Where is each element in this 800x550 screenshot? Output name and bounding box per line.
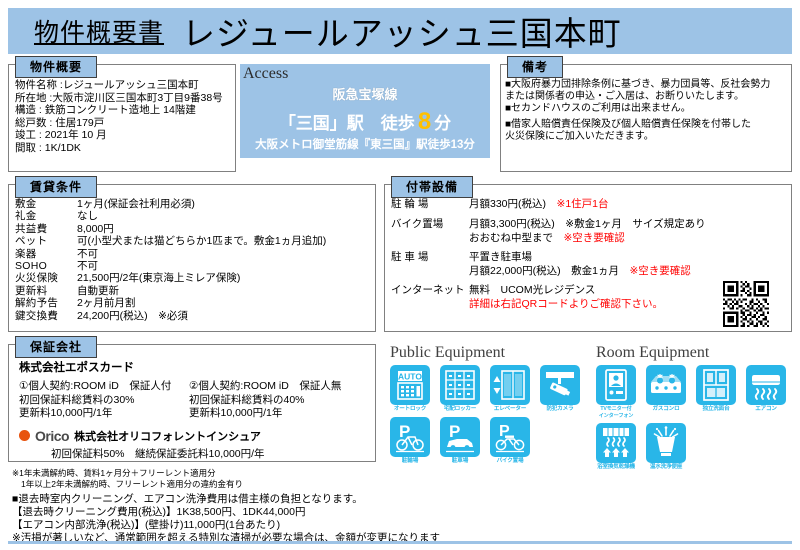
rental-condition-row: 敷金1ヶ月(保証会社利用必須) <box>15 198 375 210</box>
public-equipment-item-6: Pバイク置場 <box>488 417 532 465</box>
property-summary-document: 物件概要書 レジュールアッシュ三国本町 物件概要 物件名称 :レジュールアッシュ… <box>0 0 800 550</box>
document-header: 物件概要書 レジュールアッシュ三国本町 <box>8 8 792 54</box>
rental-condition-row: 解約予告2ヶ月前月割 <box>15 297 375 309</box>
ancillary-equipment-row: 駐 車 場平置き駐車場月額22,000円(税込) 敷金1ヵ月 ※空き要確認 <box>391 251 791 278</box>
access-walk-minutes: 8 <box>415 108 434 135</box>
rental-condition-value: 可(小型犬または猫どちらか1匹まで。敷金1ヵ月追加) <box>77 235 326 247</box>
ancillary-equipment-tab: 付帯設備 <box>391 176 473 198</box>
rental-condition-row: ペット可(小型犬または猫どちらか1匹まで。敷金1ヵ月追加) <box>15 235 375 247</box>
public-equipment-item-4: P駐輪場 <box>388 417 432 465</box>
guarantee-plan-columns: ①個人契約:ROOM iD 保証人付初回保証料総賃料の30%更新料10,000円… <box>19 380 375 421</box>
svg-text:P: P <box>449 422 460 441</box>
room-equipment-label: 浴室換気乾燥機 <box>594 464 638 471</box>
orico-row: Orico 株式会社オリコフォレントインシュア <box>19 428 375 444</box>
ancillary-equipment-row: 駐 輪 場月額330円(税込) ※1住戸1台 <box>391 198 791 211</box>
rental-condition-row: 楽器不可 <box>15 248 375 260</box>
bath-dryer-icon <box>596 423 636 463</box>
rental-condition-value: 24,200円(税込) ※必須 <box>77 310 188 322</box>
qr-code[interactable] <box>723 281 769 327</box>
ancillary-equipment-row: バイク置場月額3,300円(税込) ※敷金1ヶ月 サイズ規定ありおおむね中型まで… <box>391 218 791 245</box>
ancillary-equipment-value: 無料 UCOM光レジデンス <box>469 284 595 297</box>
ancillary-equipment-key: バイク置場 <box>391 218 469 231</box>
remarks-list: ■大阪府暴力団排除条例に基づき、暴力団員等、反社会勢力または関係者の申込・ご入居… <box>505 79 791 115</box>
document-type-label: 物件概要書 <box>34 13 164 49</box>
guarantee-plan-line: 更新料10,000円/1年 <box>189 407 359 421</box>
rental-condition-value: なし <box>77 210 98 222</box>
public-equipment-section: Public Equipment AUTOオートロック宅配ロッカーエレベーター防… <box>388 344 588 478</box>
ancillary-equipment-value-text: 無料 UCOM光レジデンス <box>469 284 595 296</box>
remark-line: ■セカンドハウスのご利用は出来ません。 <box>505 103 791 115</box>
ancillary-equipment-main: バイク置場月額3,300円(税込) ※敷金1ヶ月 サイズ規定あり <box>391 218 791 231</box>
rental-condition-row: 鍵交換費24,200円(税込) ※必須 <box>15 310 375 322</box>
air-conditioner-icon <box>746 365 786 405</box>
orico-logo-icon <box>19 430 30 441</box>
rental-condition-row: 更新料自動更新 <box>15 285 375 297</box>
rental-condition-row: SOHO不可 <box>15 260 375 272</box>
rental-condition-key: SOHO <box>15 260 77 272</box>
ancillary-equipment-sub-note: 詳細は右記QRコードよりご確認下さい。 <box>469 298 663 310</box>
room-equipment-item-0: TVモニター付インターフォン <box>594 365 638 419</box>
ancillary-equipment-value: 月額330円(税込) ※1住戸1台 <box>469 198 609 211</box>
guarantee-plan-line: 初回保証料総賃料の40% <box>189 394 359 408</box>
public-equipment-title: Public Equipment <box>390 344 588 362</box>
property-overview-panel: 物件概要 物件名称 :レジュールアッシュ三国本町所在地 :大阪市淀川区三国本町3… <box>8 64 236 172</box>
orico-brand: Orico <box>35 428 69 444</box>
room-equipment-title: Room Equipment <box>596 344 796 362</box>
rental-condition-value: 2ヶ月前月割 <box>77 297 135 309</box>
guarantee-plan-line: ②個人契約:ROOM iD 保証人無 <box>189 380 359 394</box>
rental-condition-key: 解約予告 <box>15 297 77 309</box>
overview-line: 間取 : 1K/1DK <box>15 142 235 155</box>
remark-line: ■借家人賠償責任保険及び個人賠償責任保険を付帯した <box>505 119 791 131</box>
public-equipment-item-2: エレベーター <box>488 365 532 413</box>
room-equipment-label: TVモニター付インターフォン <box>594 406 638 419</box>
rental-condition-row: 共益費8,000円 <box>15 223 375 235</box>
public-equipment-item-3: 防犯カメラ <box>538 365 582 413</box>
ancillary-equipment-value-text: 月額3,300円(税込) ※敷金1ヶ月 サイズ規定あり <box>469 218 706 230</box>
ancillary-equipment-value-text: 平置き駐車場 <box>469 251 532 263</box>
room-equipment-item-4: 浴室換気乾燥機 <box>594 423 638 471</box>
rental-condition-key: 火災保険 <box>15 272 77 284</box>
overview-line: 物件名称 :レジュールアッシュ三国本町 <box>15 79 235 92</box>
room-equipment-label: エアコン <box>744 406 788 413</box>
remark-line: ■大阪府暴力団排除条例に基づき、暴力団員等、反社会勢力 <box>505 79 791 91</box>
rental-condition-row: 火災保険21,500円/2年(東京海上ミレア保険) <box>15 272 375 284</box>
overview-line: 竣工 : 2021年 10 月 <box>15 129 235 142</box>
rental-condition-value: 自動更新 <box>77 285 119 297</box>
guarantee-company-tab: 保証会社 <box>15 336 97 358</box>
ancillary-equipment-sub-text: 月額22,000円(税込) 敷金1ヵ月 <box>469 265 629 277</box>
access-train-line: 阪急宝塚線 <box>240 84 490 103</box>
ancillary-equipment-sub: おおむね中型まで ※空き要確認 <box>469 232 791 245</box>
bicycle-parking-icon: P <box>390 417 430 457</box>
security-camera-icon <box>540 365 580 405</box>
ancillary-equipment-key: 駐 車 場 <box>391 251 469 264</box>
svg-text:AUTO: AUTO <box>398 372 422 382</box>
rental-conditions-rows: 敷金1ヶ月(保証会社利用必須)礼金なし共益費8,000円ペット可(小型犬または猫… <box>15 198 375 322</box>
remarks-tab: 備考 <box>507 56 563 78</box>
public-equipment-label: エレベーター <box>488 406 532 413</box>
orico-company-name: 株式会社オリコフォレントインシュア <box>74 428 261 444</box>
rental-condition-key: 敷金 <box>15 198 77 210</box>
rental-condition-row: 礼金なし <box>15 210 375 222</box>
page-title: レジュールアッシュ三国本町 <box>182 7 622 55</box>
rental-condition-value: 1ヶ月(保証会社利用必須) <box>77 198 195 210</box>
ancillary-equipment-value: 月額3,300円(税込) ※敷金1ヶ月 サイズ規定あり <box>469 218 706 231</box>
access-block: Access 阪急宝塚線 「三国」駅 徒歩8分 大阪メトロ御堂筋線『東三国』駅徒… <box>240 64 490 158</box>
note-small-line: 1年以上2年未満解約時、フリーレント適用分の違約金有り <box>12 479 412 490</box>
ancillary-equipment-value-text: 月額330円(税込) <box>469 198 557 210</box>
public-equipment-label: オートロック <box>388 406 432 413</box>
elevator-icon <box>490 365 530 405</box>
ancillary-equipment-value: 平置き駐車場 <box>469 251 532 264</box>
rental-conditions-panel: 賃貸条件 敷金1ヶ月(保証会社利用必須)礼金なし共益費8,000円ペット可(小型… <box>8 184 376 332</box>
public-equipment-icon-grid: AUTOオートロック宅配ロッカーエレベーター防犯カメラP駐輪場P駐車場Pバイク置… <box>388 365 588 464</box>
guarantee-plan-line: 初回保証料総賃料の30% <box>19 394 189 408</box>
car-parking-icon: P <box>440 417 480 457</box>
rental-condition-key: 鍵交換費 <box>15 310 77 322</box>
ancillary-equipment-sub-note: ※空き要確認 <box>629 265 690 277</box>
property-overview-tab: 物件概要 <box>15 56 97 78</box>
note-line: 【エアコン内部洗浄(税込)】(壁掛け)11,000円(1台あたり) <box>12 519 412 532</box>
overview-line: 総戸数 : 住居179戸 <box>15 117 235 130</box>
overview-line: 構造 : 鉄筋コンクリート造地上 14階建 <box>15 104 235 117</box>
bottom-notes-lines: ■退去時室内クリーニング、エアコン洗浄費用は借主様の負担となります。【退去時クリ… <box>12 493 412 545</box>
guarantee-plan-line: ①個人契約:ROOM iD 保証人付 <box>19 380 189 394</box>
bottom-rule <box>8 541 792 544</box>
room-equipment-item-2: 独立洗面台 <box>694 365 738 419</box>
room-equipment-icon-grid: TVモニター付インターフォンガスコンロ独立洗面台エアコン浴室換気乾燥機温水洗浄便… <box>594 365 796 471</box>
guarantee-plan-column: ②個人契約:ROOM iD 保証人無初回保証料総賃料の40%更新料10,000円… <box>189 380 359 421</box>
room-equipment-item-5: 温水洗浄便座 <box>644 423 688 471</box>
note-line: ■退去時室内クリーニング、エアコン洗浄費用は借主様の負担となります。 <box>12 493 412 506</box>
ancillary-equipment-sub: 月額22,000円(税込) 敷金1ヵ月 ※空き要確認 <box>469 265 791 278</box>
access-title: Access <box>243 65 288 83</box>
public-equipment-item-0: AUTOオートロック <box>388 365 432 413</box>
guarantee-company-panel: 保証会社 株式会社エポスカード ①個人契約:ROOM iD 保証人付初回保証料総… <box>8 344 376 462</box>
remark-line: 火災保険にご加入いただきます。 <box>505 131 791 143</box>
guarantee-company-name: 株式会社エポスカード <box>19 359 375 375</box>
delivery-locker-icon <box>440 365 480 405</box>
rental-condition-key: 更新料 <box>15 285 77 297</box>
guarantee-plan-column: ①個人契約:ROOM iD 保証人付初回保証料総賃料の30%更新料10,000円… <box>19 380 189 421</box>
rental-condition-value: 不可 <box>77 248 98 260</box>
orico-fee-detail: 初回保証料50% 継続保証委託料10,000円/年 <box>51 446 375 461</box>
remark-line: または関係者の申込・ご入居は、お断りいたします。 <box>505 91 791 103</box>
rental-condition-key: ペット <box>15 235 77 247</box>
rental-condition-value: 8,000円 <box>77 223 114 235</box>
public-equipment-item-1: 宅配ロッカー <box>438 365 482 413</box>
remarks-panel: 備考 ■大阪府暴力団排除条例に基づき、暴力団員等、反社会勢力または関係者の申込・… <box>500 64 792 172</box>
room-equipment-label: ガスコンロ <box>644 406 688 413</box>
rental-condition-value: 不可 <box>77 260 98 272</box>
public-equipment-label: 駐車場 <box>438 458 482 465</box>
ancillary-equipment-value-note: ※1住戸1台 <box>557 198 609 210</box>
note-line: 【退去時クリーニング費用(税込)】1K38,500円、1DK44,000円 <box>12 506 412 519</box>
room-equipment-label: 温水洗浄便座 <box>644 464 688 471</box>
ancillary-equipment-main: 駐 車 場平置き駐車場 <box>391 251 791 264</box>
rental-condition-key: 共益費 <box>15 223 77 235</box>
remarks-list-2: ■借家人賠償責任保険及び個人賠償責任保険を付帯した火災保険にご加入いただきます。 <box>505 119 791 143</box>
auto-lock-icon: AUTO <box>390 365 430 405</box>
access-minutes-unit: 分 <box>434 114 451 133</box>
bike-parking-icon: P <box>490 417 530 457</box>
access-station-walk: 「三国」駅 徒歩8分 <box>240 108 490 136</box>
public-equipment-label: 宅配ロッカー <box>438 406 482 413</box>
tv-intercom-icon <box>596 365 636 405</box>
ancillary-equipment-key: 駐 輪 場 <box>391 198 469 211</box>
rental-conditions-tab: 賃貸条件 <box>15 176 97 198</box>
ancillary-equipment-key: インターネット <box>391 284 469 297</box>
public-equipment-label: バイク置場 <box>488 458 532 465</box>
gas-stove-icon <box>646 365 686 405</box>
washbasin-icon <box>696 365 736 405</box>
public-equipment-item-5: P駐車場 <box>438 417 482 465</box>
ancillary-equipment-sub-text: おおむね中型まで <box>469 232 564 244</box>
ancillary-equipment-sub-note: ※空き要確認 <box>564 232 625 244</box>
access-station-label: 「三国」駅 徒歩 <box>279 114 415 133</box>
room-equipment-section: Room Equipment TVモニター付インターフォンガスコンロ独立洗面台エ… <box>594 344 796 478</box>
rental-condition-key: 礼金 <box>15 210 77 222</box>
rental-condition-value: 21,500円/2年(東京海上ミレア保険) <box>77 272 240 284</box>
bottom-notes-small: ※1年未満解約時、賃料1ヶ月分＋フリーレント適用分1年以上2年未満解約時、フリー… <box>12 468 412 490</box>
room-equipment-item-1: ガスコンロ <box>644 365 688 419</box>
rental-condition-key: 楽器 <box>15 248 77 260</box>
guarantee-plan-line: 更新料10,000円/1年 <box>19 407 189 421</box>
overview-line: 所在地 :大阪市淀川区三国本町3丁目9番38号 <box>15 92 235 105</box>
ancillary-equipment-main: 駐 輪 場月額330円(税込) ※1住戸1台 <box>391 198 791 211</box>
room-equipment-item-3: エアコン <box>744 365 788 419</box>
public-equipment-label: 駐輪場 <box>388 458 432 465</box>
room-equipment-label: 独立洗面台 <box>694 406 738 413</box>
warm-water-toilet-icon <box>646 423 686 463</box>
bottom-notes: ※1年未満解約時、賃料1ヶ月分＋フリーレント適用分1年以上2年未満解約時、フリー… <box>12 468 412 545</box>
ancillary-equipment-panel: 付帯設備 駐 輪 場月額330円(税込) ※1住戸1台バイク置場月額3,300円… <box>384 184 792 332</box>
note-small-line: ※1年未満解約時、賃料1ヶ月分＋フリーレント適用分 <box>12 468 412 479</box>
public-equipment-label: 防犯カメラ <box>538 406 582 413</box>
property-overview-list: 物件名称 :レジュールアッシュ三国本町所在地 :大阪市淀川区三国本町3丁目9番3… <box>15 79 235 155</box>
access-secondary-line: 大阪メトロ御堂筋線『東三国』駅徒歩13分 <box>240 136 490 152</box>
